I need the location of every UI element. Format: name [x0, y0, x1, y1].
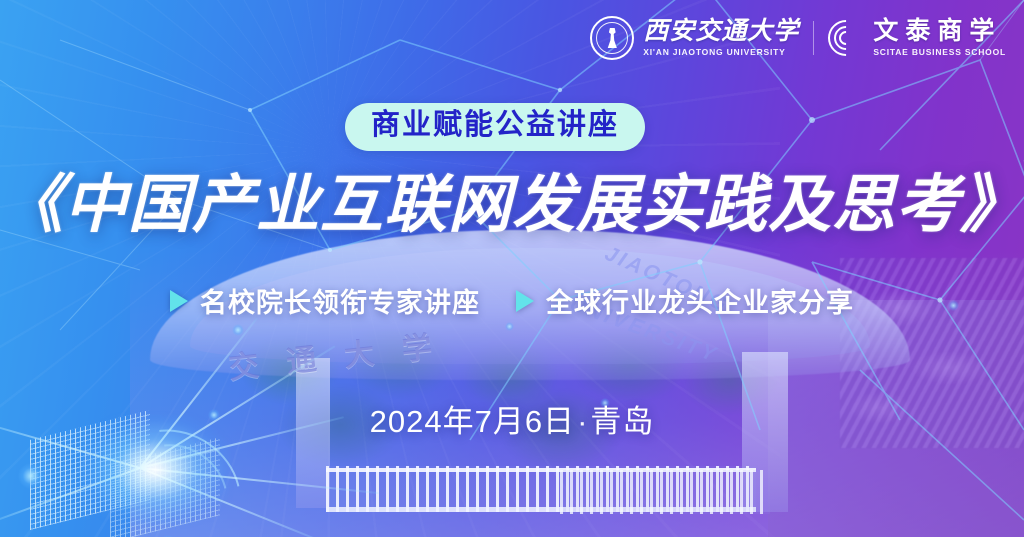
separator-dot: ·: [575, 404, 590, 439]
logo-row: 西安交通大学 XI'AN JIAOTONG UNIVERSITY 文泰商学 SC…: [590, 16, 1006, 60]
event-location: 青岛: [590, 404, 654, 439]
subtitle-label: 全球行业龙头企业家分享: [546, 281, 854, 320]
logo-scitae-cn: 文泰商学: [873, 19, 1006, 44]
subtitle-label: 名校院长领衔专家讲座: [200, 281, 480, 320]
bokeh-dot: [232, 324, 244, 336]
promo-banner: 交通大学 JIAOTONG UNIVERSITY: [0, 0, 1024, 537]
event-datetime-location: 2024年7月6日·青岛: [0, 396, 1024, 441]
logo-xjtu-en: XI'AN JIAOTONG UNIVERSITY: [643, 48, 799, 57]
logo-xjtu-cn: 西安交通大学: [643, 19, 799, 44]
logo-scitae: 文泰商学 SCITAE BUSINESS SCHOOL: [828, 19, 1006, 57]
bokeh-dot: [505, 322, 514, 331]
event-type-badge: 商业赋能公益讲座: [345, 103, 645, 151]
xjtu-seal-icon: [590, 16, 634, 60]
subtitle-item: 全球行业龙头企业家分享: [516, 281, 854, 320]
subtitle-item: 名校院长领衔专家讲座: [170, 281, 480, 320]
triangle-right-icon: [516, 290, 534, 312]
triangle-right-icon: [170, 290, 188, 312]
logo-divider: [813, 21, 814, 55]
subtitle-row: 名校院长领衔专家讲座 全球行业龙头企业家分享: [0, 281, 1024, 320]
logo-xjtu: 西安交通大学 XI'AN JIAOTONG UNIVERSITY: [590, 16, 799, 60]
scitae-arc-icon: [828, 20, 864, 56]
event-date: 2024年7月6日: [370, 404, 575, 439]
campus-fence-secondary: [560, 470, 770, 514]
page-title: 《中国产业互联网发展实践及思考》: [0, 172, 1024, 238]
logo-scitae-en: SCITAE BUSINESS SCHOOL: [873, 48, 1006, 57]
bokeh-dot: [18, 463, 44, 489]
tech-glow-burst: [0, 355, 290, 537]
